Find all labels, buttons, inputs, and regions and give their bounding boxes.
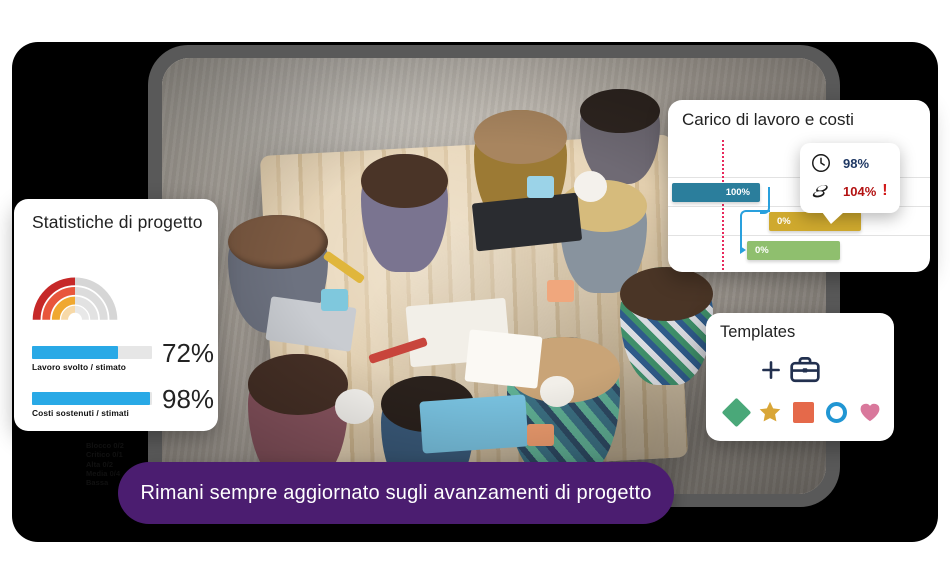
tooltip-time-row: 98%: [810, 152, 869, 174]
workload-tooltip: 98% 104% !: [800, 143, 900, 213]
banner-text: Rimani sempre aggiornato sugli avanzamen…: [140, 482, 651, 505]
templates-card-title: Templates: [720, 323, 795, 342]
dependency-arrow: [740, 246, 746, 254]
paper: [465, 329, 543, 389]
sticky-note: [527, 176, 554, 198]
project-statistics-card: Statistiche di progetto Blocco 0/2 Criti…: [14, 199, 218, 431]
stats-card-title: Statistiche di progetto: [32, 212, 203, 233]
update-banner: Rimani sempre aggiornato sugli avanzamen…: [118, 462, 674, 524]
add-template-button[interactable]: [758, 353, 822, 387]
promo-graphic: Statistiche di progetto Blocco 0/2 Criti…: [0, 0, 950, 570]
legend-item: Critico 0/1: [86, 450, 124, 459]
tooltip-time-value: 98%: [843, 156, 869, 171]
progress-fill: [32, 346, 118, 359]
briefcase-icon: [788, 353, 822, 387]
today-marker: [722, 140, 724, 270]
progress-work: Lavoro svolto / stimato: [32, 346, 152, 372]
diamond-shape[interactable]: [723, 399, 749, 425]
progress-percent: 72%: [162, 340, 214, 366]
coins-icon: [810, 180, 832, 202]
task-bar-1[interactable]: 100%: [672, 183, 760, 202]
person: [580, 89, 660, 185]
tooltip-cost-value: 104%: [843, 184, 876, 199]
legend-item: Media 0/4: [86, 469, 124, 478]
task-bar-2[interactable]: 0%: [769, 212, 861, 231]
sticky-note: [321, 289, 348, 311]
legend-item: Blocco 0/2: [86, 441, 124, 450]
person: [361, 154, 447, 272]
heart-shape[interactable]: [857, 399, 883, 425]
todo-severity-gauge: [31, 243, 119, 325]
square-shape[interactable]: [790, 399, 816, 425]
folder: [419, 394, 529, 454]
sticky-note: [527, 424, 554, 446]
circle-shape[interactable]: [824, 399, 850, 425]
templates-card: Templates: [706, 313, 894, 441]
star-shape[interactable]: [757, 399, 783, 425]
coffee-cup: [540, 376, 573, 407]
gauge-legend: Blocco 0/2 Critico 0/1 Alta 0/2 Media 0/…: [86, 441, 124, 487]
progress-track: [32, 392, 152, 405]
progress-label: Costi sostenuti / stimati: [32, 408, 152, 418]
progress-label: Lavoro svolto / stimato: [32, 362, 152, 372]
template-shapes: [723, 399, 883, 425]
gantt-gridline: [668, 235, 930, 236]
progress-cost: Costi sostenuti / stimati: [32, 392, 152, 418]
plus-icon: [758, 357, 784, 383]
dependency-link: [740, 210, 770, 250]
workload-card-title: Carico di lavoro e costi: [682, 110, 854, 130]
alert-icon: !: [882, 185, 887, 197]
person: [620, 267, 713, 385]
tooltip-tail: [822, 212, 844, 224]
progress-fill: [32, 392, 150, 405]
legend-item: Alta 0/2: [86, 460, 124, 469]
progress-track: [32, 346, 152, 359]
progress-percent: 98%: [162, 386, 214, 412]
coffee-cup: [574, 171, 607, 202]
clock-icon: [810, 152, 832, 174]
tooltip-cost-row: 104% !: [810, 180, 888, 202]
task-bar-1-label: 100%: [726, 187, 760, 198]
task-bar-2-label: 0%: [769, 216, 791, 227]
sticky-note: [547, 280, 574, 302]
